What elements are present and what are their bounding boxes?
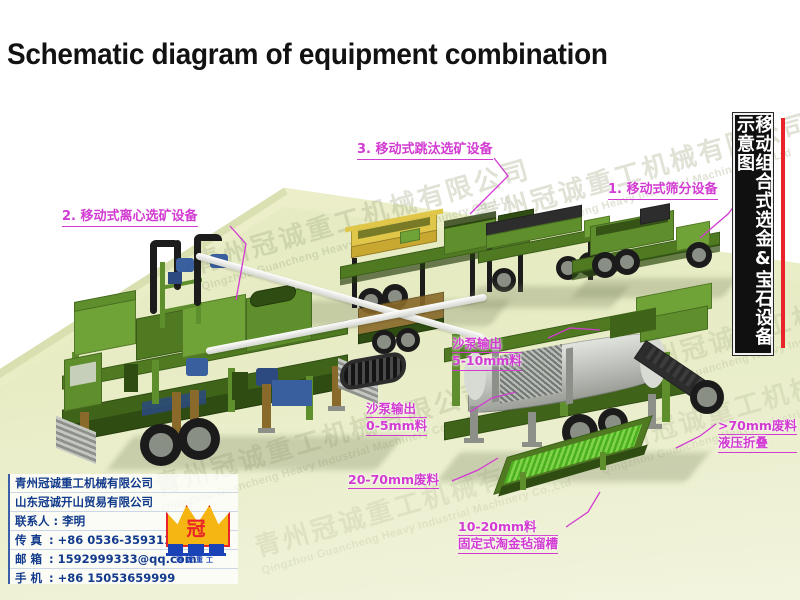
callout-equip-1: 1. 移动式筛分设备 [608,182,718,200]
callout-equip-1-line-1: 1. 移动式筛分设备 [608,182,718,200]
sluice-box-support [600,452,606,470]
company-name-secondary: 山东冠诚开山贸易有限公司 [15,495,153,509]
machine-2-pump [176,258,194,272]
machine-2-outrigger-foot [258,428,275,433]
aux-conveyor-wheel [372,330,396,354]
crown-icon: 冠 [166,505,226,545]
machine-1-wheel [686,242,712,268]
company-mobile-value: : +86 15053659999 [49,571,175,585]
callout-waste-20-70: 20-70mm废料 [348,472,439,489]
callout-pump-0-5-line-1: 沙泵输出 [366,401,427,418]
machine-2-motor [168,272,182,284]
callout-pump-5-10: 沙泵输出 5-10mm料 [452,336,522,371]
company-row: 青州冠诚重工机械有限公司 [10,474,238,493]
company-name-primary: 青州冠诚重工机械有限公司 [15,476,153,490]
vertical-banner-text: 移动组合式选金&宝石设备示意图 [735,115,772,353]
callout-equip-3-line-1: 3. 移动式跳汰选矿设备 [357,142,493,160]
page-title: Schematic diagram of equipment combinati… [7,38,608,72]
callout-sluice-10-20-line-1: 10-20mm料 [458,519,558,536]
callout-waste-70-plus-line-2: 液压折叠 [718,435,797,452]
company-row: 手 机: +86 15053659999 [10,569,238,587]
machine-2-wheel [140,424,182,466]
trommel-outrigger [470,406,478,440]
callout-waste-70-plus-line-1: >70mm废料 [718,418,797,435]
machine-2-hose [150,242,157,314]
callout-pump-0-5: 沙泵输出 0-5mm料 [366,401,427,436]
trommel-outrigger [528,412,536,444]
callout-equip-2-line-1: 2. 移动式离心选矿设备 [62,209,198,227]
sluice-box-support [520,472,526,490]
trommel-outrigger-foot [522,442,542,447]
machine-2-hose-bend [194,234,222,241]
logo-subtext: 冠诚重工 [160,555,232,565]
machine-2-equipment [232,372,248,400]
callout-equip-2: 2. 移动式离心选矿设备 [62,209,198,227]
logo-base-bars [168,544,224,553]
machine-2-outrigger [262,384,271,430]
callout-sluice-10-20-line-2: 固定式淘金毡溜槽 [458,536,558,553]
machine-2-hose [194,236,201,306]
waste-conveyor-wheel [690,380,724,414]
callout-sluice-10-20: 10-20mm料 固定式淘金毡溜槽 [458,519,558,554]
machine-2-tower-post [160,262,165,328]
callout-pump-5-10-line-2: 5-10mm料 [452,353,522,370]
machine-2-equipment [124,364,138,392]
machine-2-wheel [178,418,220,460]
machine-1-wheel [614,249,640,275]
company-mobile-key: 手 机 [15,569,49,587]
machine-2-outrigger-foot [328,406,345,411]
company-logo: 冠 冠诚重工 [160,505,232,563]
trommel-outrigger-foot [464,438,484,443]
vertical-banner: 移动组合式选金&宝石设备示意图 [733,113,773,355]
company-contact: 联系人 : 李明 [15,514,85,528]
banner-accent-rule [781,118,785,348]
company-fax-key: 传 真 [15,531,49,549]
machine-2-column [152,360,159,404]
callout-waste-70-plus: >70mm废料 液压折叠 [718,418,797,453]
callout-equip-3: 3. 移动式跳汰选矿设备 [357,142,493,160]
machine-2-control-box [272,380,312,406]
callout-pump-5-10-line-1: 沙泵输出 [452,336,522,353]
slide-canvas: 青州冠诚重工机械有限公司 Qingzhou Guancheng Heavy In… [0,0,800,600]
company-email-key: 邮 箱 [15,550,49,568]
callout-waste-20-70-line-1: 20-70mm废料 [348,472,439,489]
logo-letter: 冠 [166,514,226,541]
aux-conveyor-wheel [396,328,420,352]
trommel-drum-ring [566,347,573,404]
callout-pump-0-5-line-2: 0-5mm料 [366,418,427,435]
machine-2-slurry-pump [186,358,208,376]
